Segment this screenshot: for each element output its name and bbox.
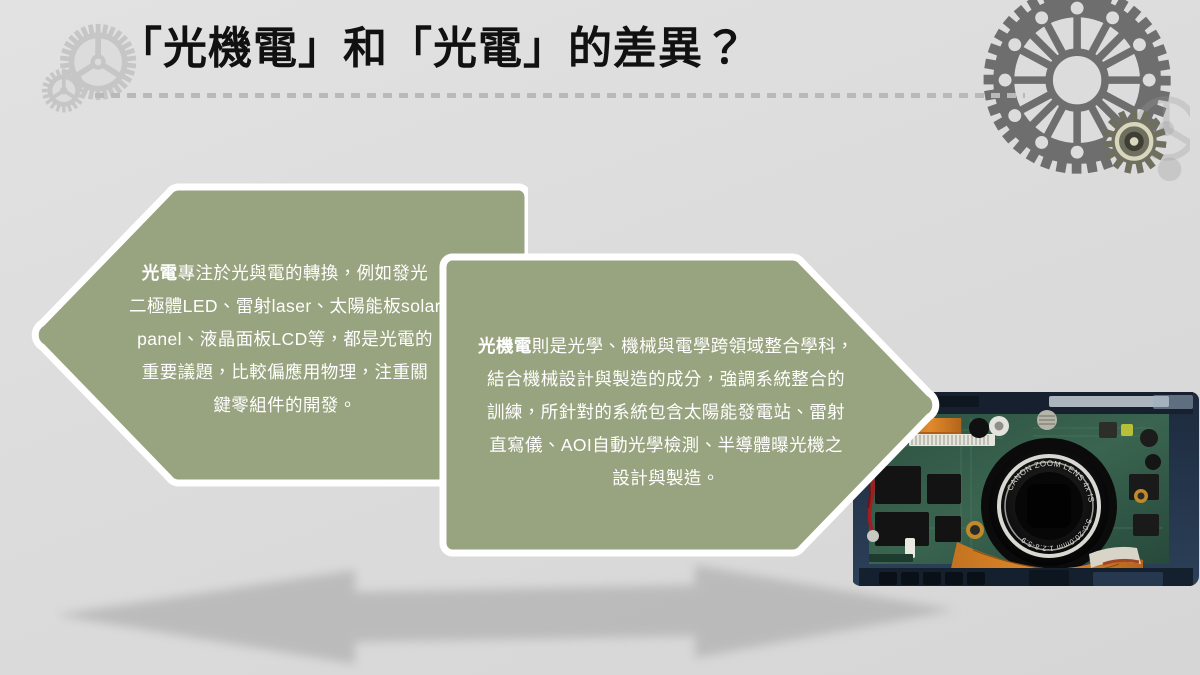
arrow-right-line-3: 直寫儀、AOI自動光學檢測、半導體曝光機之 — [450, 429, 882, 462]
arrow-right[interactable]: 光機電則是光學、機械與電學跨領域整合學科， 結合機械設計與製造的成分，強調系統整… — [438, 245, 943, 565]
arrow-right-line-0: 光機電則是光學、機械與電學跨領域整合學科， — [450, 330, 882, 363]
arrow-right-line-1: 結合機械設計與製造的成分，強調系統整合的 — [450, 363, 882, 396]
arrow-right-line-4: 設計與製造。 — [450, 462, 882, 495]
arrow-left-line-0: 光電專注於光與電的轉換，例如發光 — [110, 257, 460, 290]
page-title: 「光機電」和「光電」的差異？ — [118, 21, 748, 77]
arrow-left-line-1: 二極體LED、雷射laser、太陽能板solar — [110, 290, 460, 323]
arrow-right-line-2: 訓練，所針對的系統包含太陽能發電站、雷射 — [450, 396, 882, 429]
title-block: 「光機電」和「光電」的差異？ — [0, 0, 1200, 110]
arrow-left-line-4: 鍵零組件的開發。 — [110, 389, 460, 422]
arrow-left-line-3: 重要議題，比較偏應用物理，注重關 — [110, 356, 460, 389]
slide-canvas: 「光機電」和「光電」的差異？ — [0, 0, 1200, 675]
arrow-right-text: 光機電則是光學、機械與電學跨領域整合學科， 結合機械設計與製造的成分，強調系統整… — [450, 330, 882, 495]
title-divider — [95, 93, 1025, 98]
arrow-left-line-2: panel、液晶面板LCD等，都是光電的 — [110, 323, 460, 356]
arrow-left-text: 光電專注於光與電的轉換，例如發光 二極體LED、雷射laser、太陽能板sola… — [110, 257, 460, 422]
